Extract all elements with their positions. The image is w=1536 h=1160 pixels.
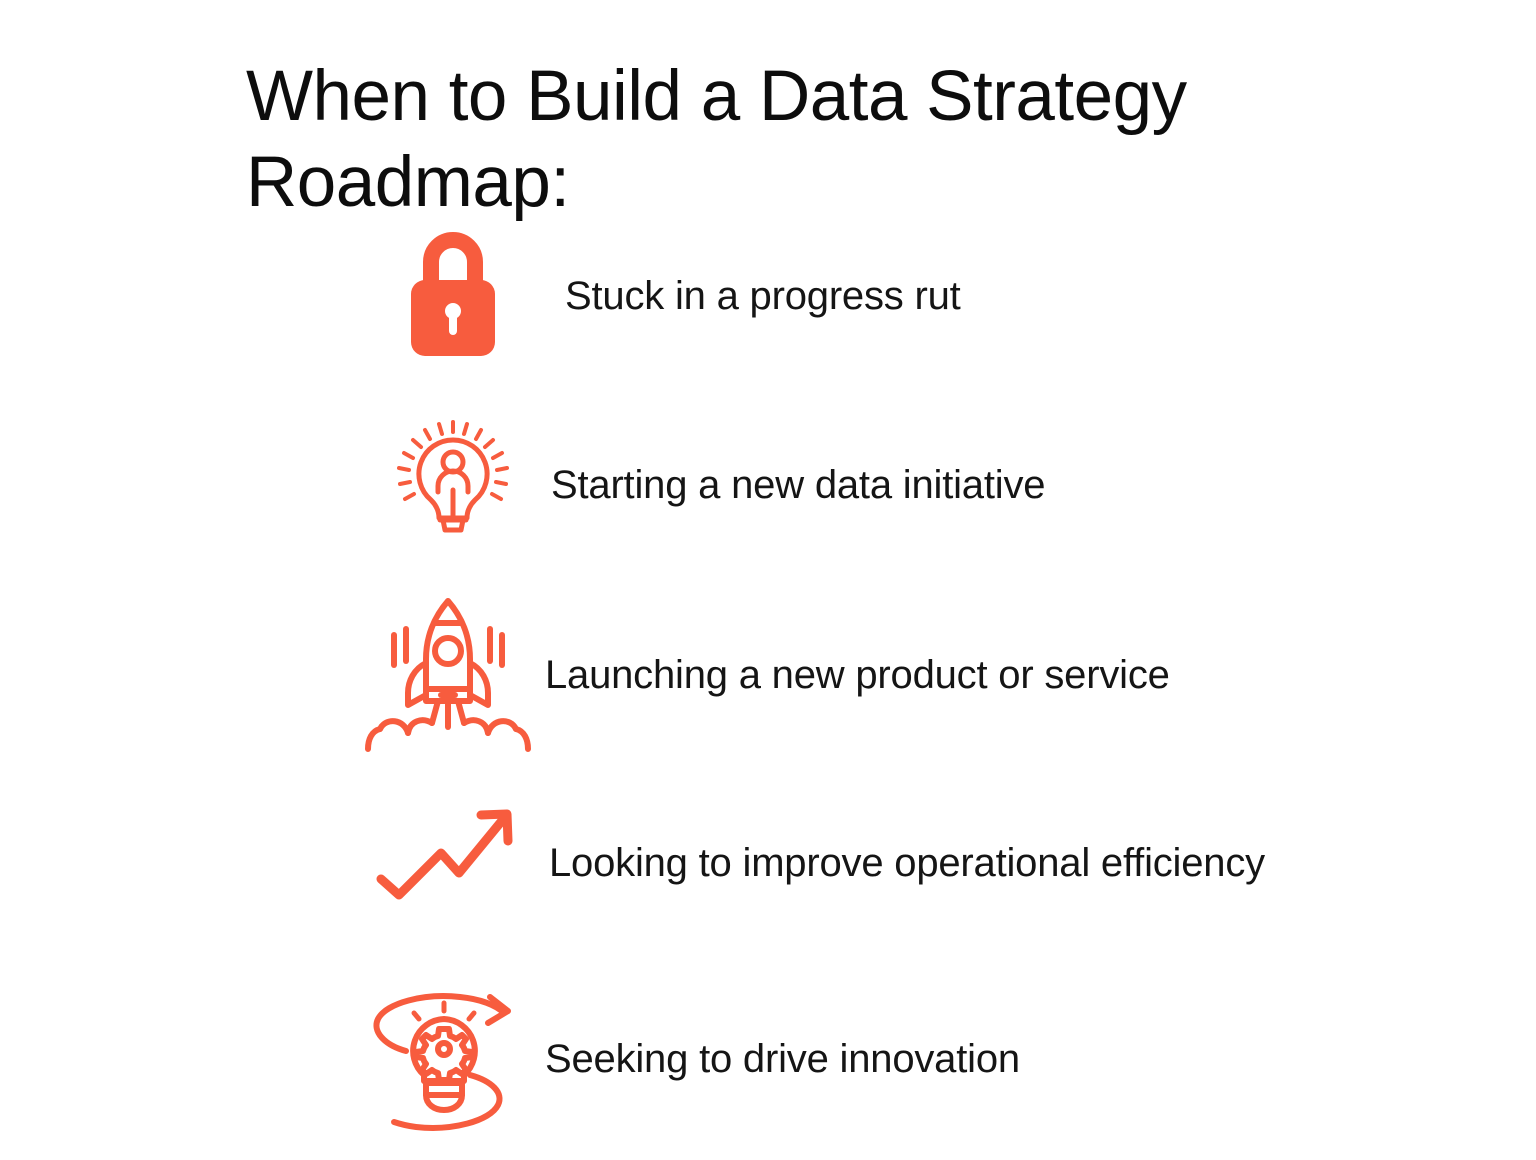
- list-item: Starting a new data initiative: [0, 392, 1536, 584]
- list-item-label: Launching a new product or service: [545, 652, 1170, 698]
- list-item-label: Looking to improve operational efficienc…: [549, 840, 1265, 886]
- lightbulb-gear-icon: [355, 966, 535, 1146]
- list-item-label: Starting a new data initiative: [551, 462, 1045, 508]
- list-item-label: Stuck in a progress rut: [565, 273, 961, 319]
- list-item: Looking to improve operational efficienc…: [0, 776, 1536, 968]
- checklist: Stuck in a progress rut: [0, 200, 1536, 1160]
- padlock-icon: [363, 204, 543, 384]
- growth-arrow-icon: [358, 772, 538, 952]
- lightbulb-person-icon: [363, 389, 543, 569]
- slide-canvas: When to Build a Data Strategy Roadmap: S…: [0, 0, 1536, 1127]
- list-item: Seeking to drive innovation: [0, 968, 1536, 1160]
- rocket-launch-icon: [358, 586, 538, 766]
- list-item-label: Seeking to drive innovation: [545, 1036, 1020, 1082]
- list-item: Stuck in a progress rut: [0, 200, 1536, 392]
- list-item: Launching a new product or service: [0, 584, 1536, 776]
